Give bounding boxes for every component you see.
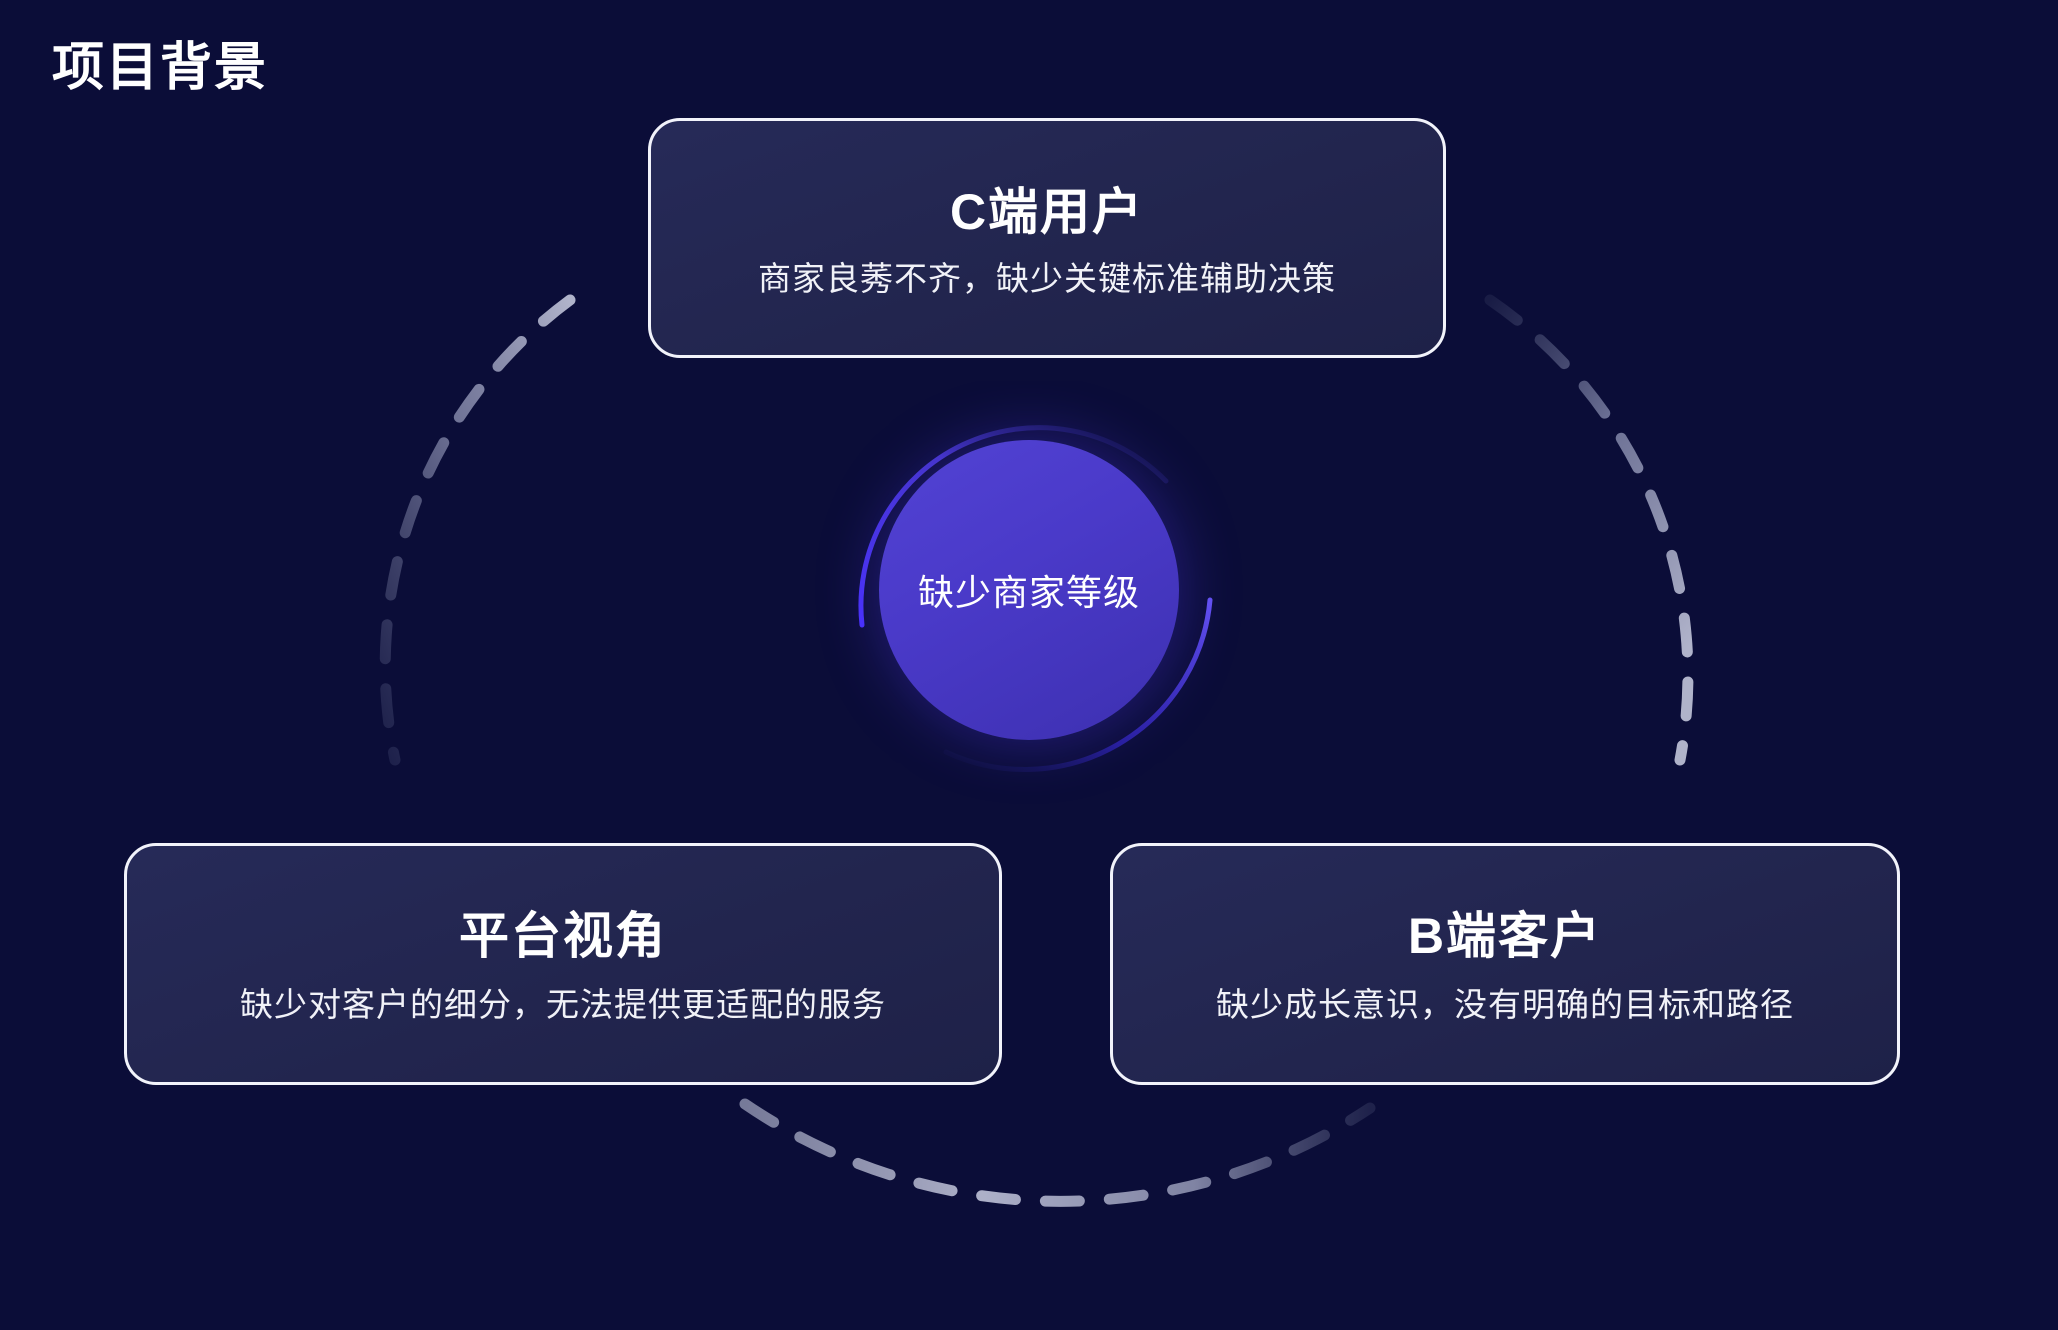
right-dashed-arc: [1490, 300, 1688, 760]
center-node: 缺少商家等级: [879, 440, 1179, 740]
center-circle[interactable]: 缺少商家等级: [879, 440, 1179, 740]
card-description: 缺少成长意识，没有明确的目标和路径: [1216, 984, 1794, 1027]
card-description: 商家良莠不齐，缺少关键标准辅助决策: [758, 258, 1336, 301]
page-title: 项目背景: [52, 36, 268, 101]
card-c-end-user[interactable]: C端用户 商家良莠不齐，缺少关键标准辅助决策: [648, 118, 1446, 358]
card-title: B端客户: [1408, 906, 1602, 966]
center-label: 缺少商家等级: [918, 564, 1140, 616]
card-title: C端用户: [950, 182, 1144, 242]
left-dashed-arc: [385, 300, 570, 760]
card-b-end-customer[interactable]: B端客户 缺少成长意识，没有明确的目标和路径: [1110, 843, 1900, 1085]
card-platform-view[interactable]: 平台视角 缺少对客户的细分，无法提供更适配的服务: [124, 843, 1002, 1085]
bottom-dashed-arc: [745, 1104, 1370, 1201]
card-title: 平台视角: [459, 906, 667, 966]
card-description: 缺少对客户的细分，无法提供更适配的服务: [240, 984, 886, 1027]
slide-canvas: 项目背景: [0, 0, 2058, 1330]
